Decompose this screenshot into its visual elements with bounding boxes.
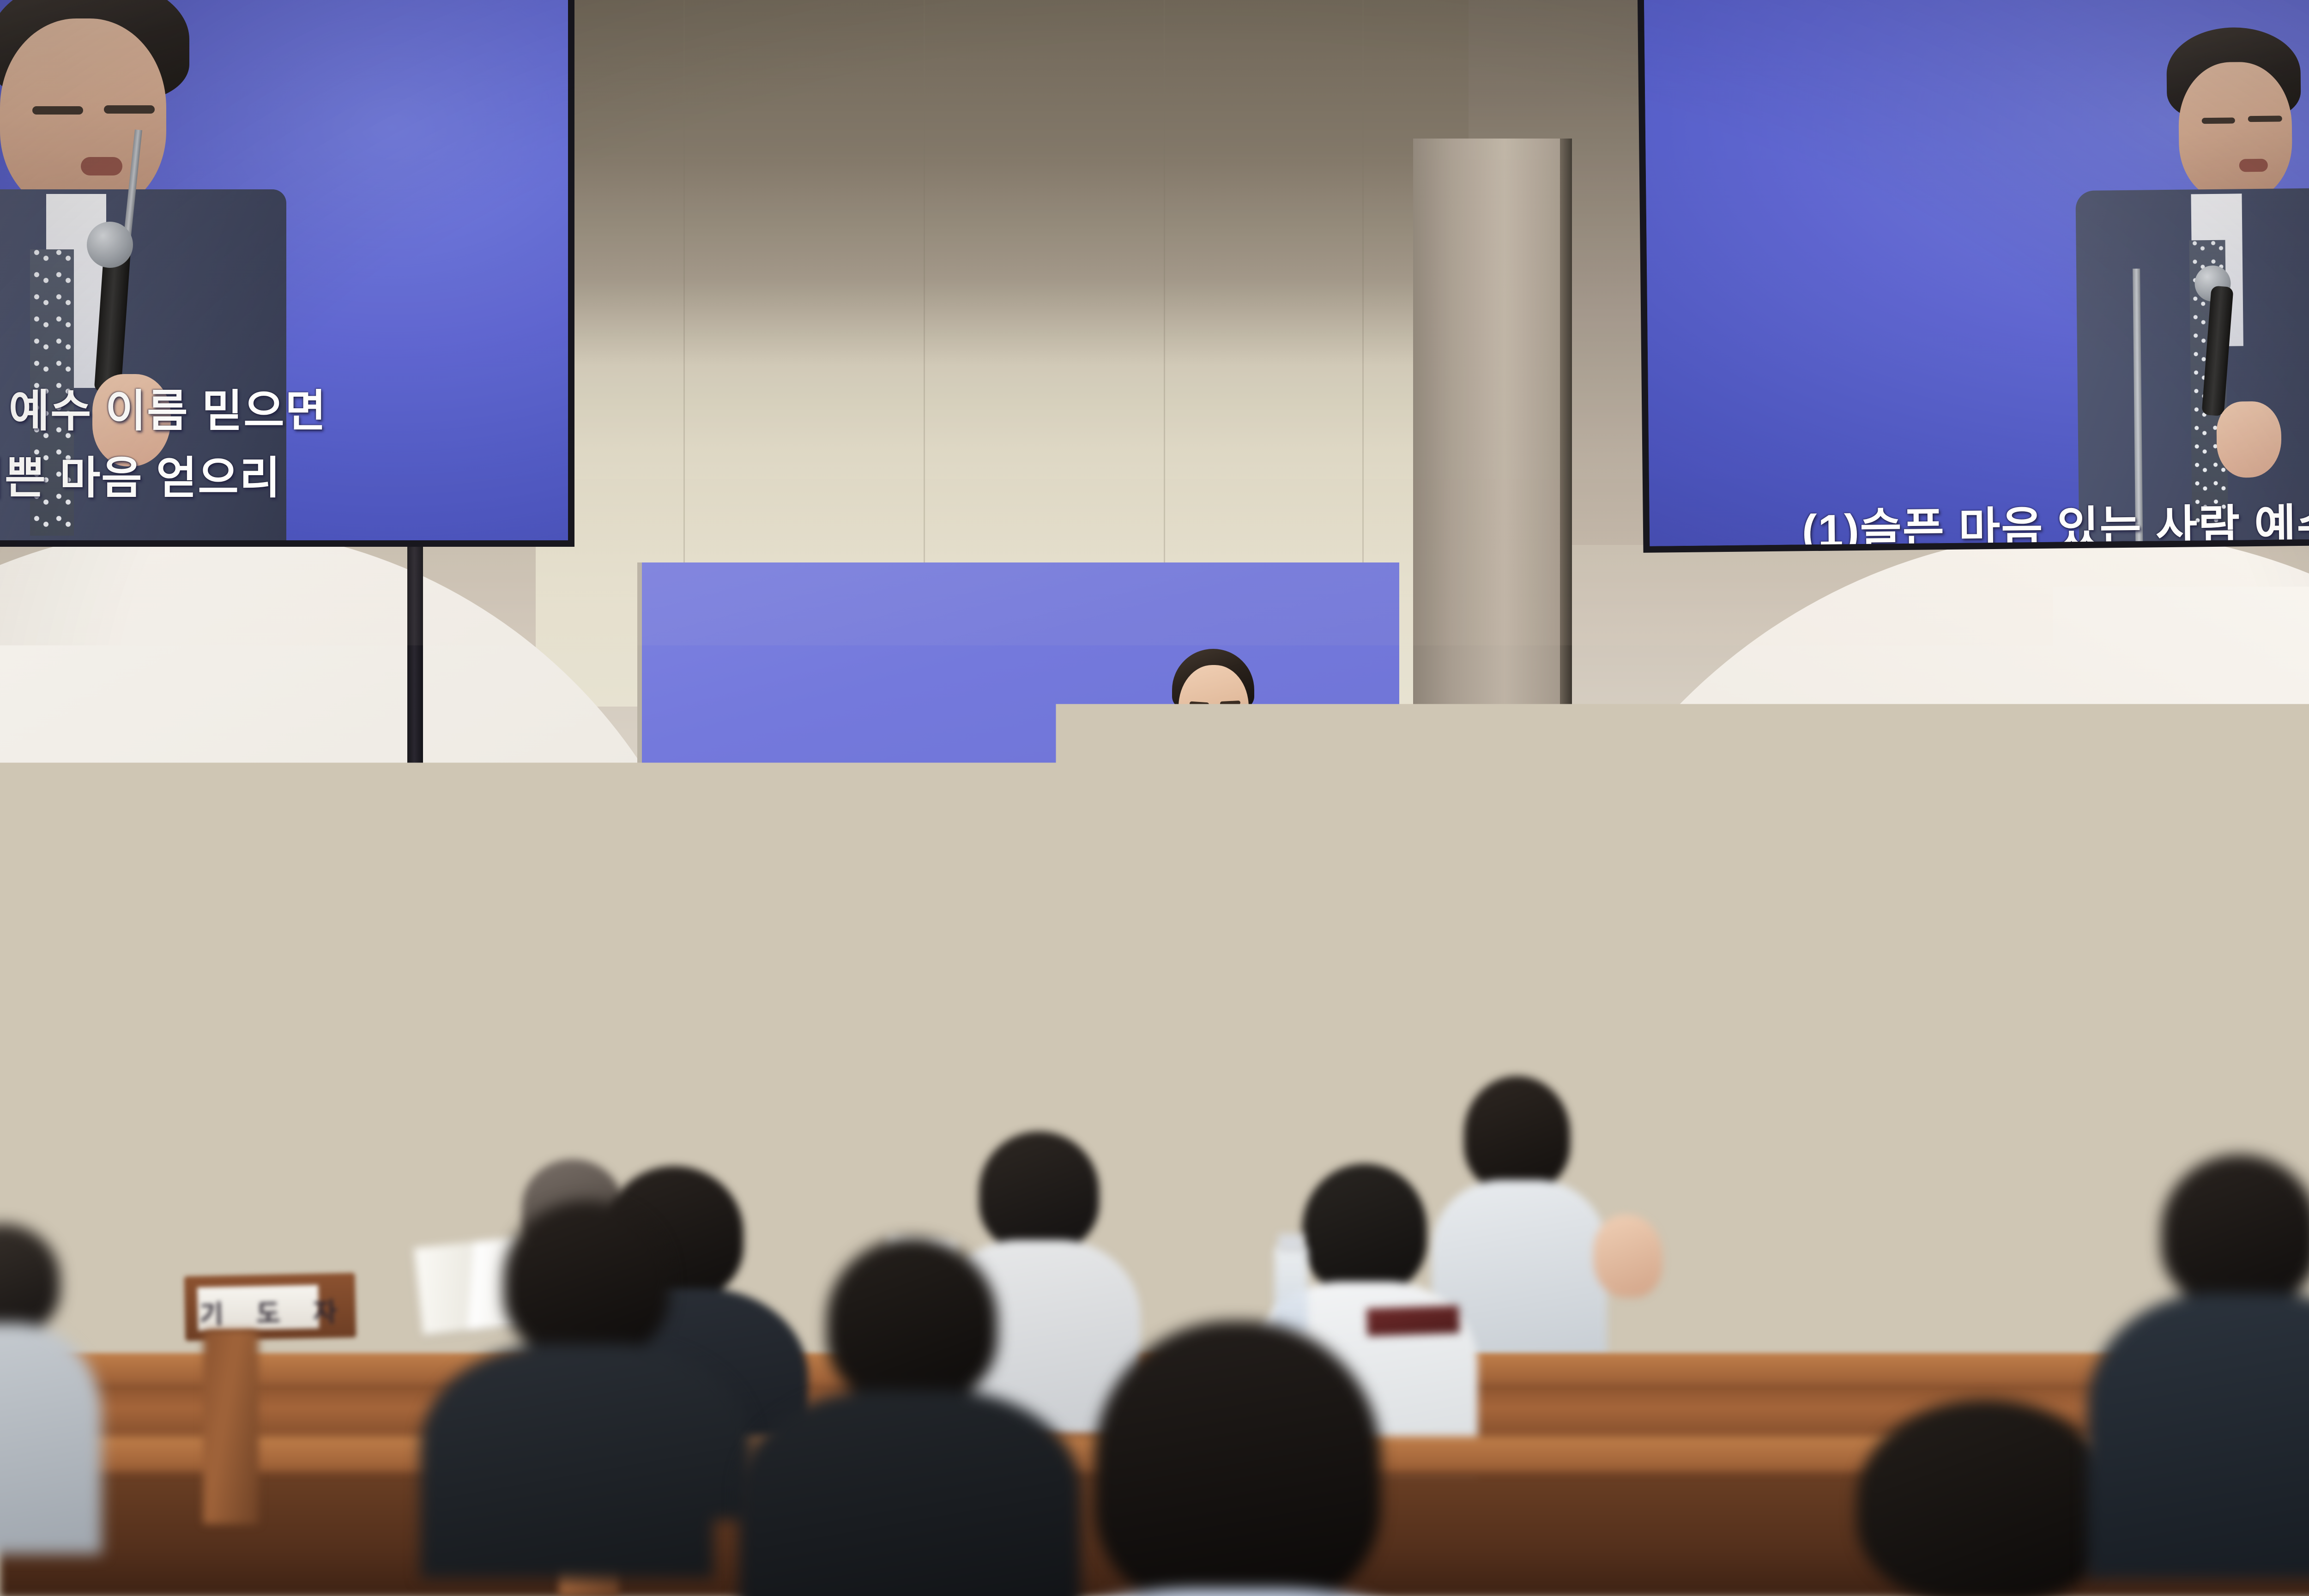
left-screen-lyric-line-2: 기쁜 마음 얻으리: [0, 450, 425, 507]
floor-cable-loop: [1355, 1141, 1390, 1162]
fan-vent: [1034, 1062, 1057, 1083]
side-table: [0, 917, 88, 943]
pulpit-table-leg-left: [940, 887, 994, 1173]
preacher-hand-left: [1118, 858, 1169, 887]
water-glass: [951, 830, 980, 859]
preacher-hand-right: [1247, 845, 1292, 901]
water-bottle: [1275, 1247, 1308, 1332]
bible-far-row: [1908, 1161, 2015, 1282]
microphone-stand-base: [1199, 868, 1253, 885]
fan-stem: [1029, 933, 1061, 1131]
prayer-seat-sign-text: 기 도 자: [199, 1292, 321, 1331]
bible-mid-row: [1366, 1306, 1460, 1336]
preacher-eye-left: [1191, 712, 1209, 716]
sermon-papers: [1339, 845, 1408, 863]
pew-end-cap-left: [203, 1330, 259, 1524]
right-screen-lyric-line-1: (1)슬픈 마음 있는 사람 예수 이름 믿으: [1801, 495, 2309, 546]
right-projection-screen: (1)슬픈 마음 있는 사람 예수 이름 믿으 영원토록 변함 없는 기쁜 마음…: [1644, 0, 2309, 546]
water-bottle-cap: [1278, 1234, 1304, 1252]
church-service-photo: 람 예수 이름 믿으면 기쁜 마음 얻으리 (1)슬픈 마음 있는 사람 예수 …: [0, 0, 2309, 1596]
left-projection-screen: 람 예수 이름 믿으면 기쁜 마음 얻으리: [0, 0, 568, 540]
stage-chair-2-seat: [76, 1039, 247, 1072]
stage-chair-2-arm-top: [74, 966, 241, 980]
handheld-microphone-head: [1230, 711, 1257, 738]
preacher-shirt-cuff: [1256, 900, 1290, 920]
left-screen-lyric-line-1: 람 예수 이름 믿으면: [0, 383, 416, 440]
column-shadow-edge: [1560, 139, 1572, 1076]
